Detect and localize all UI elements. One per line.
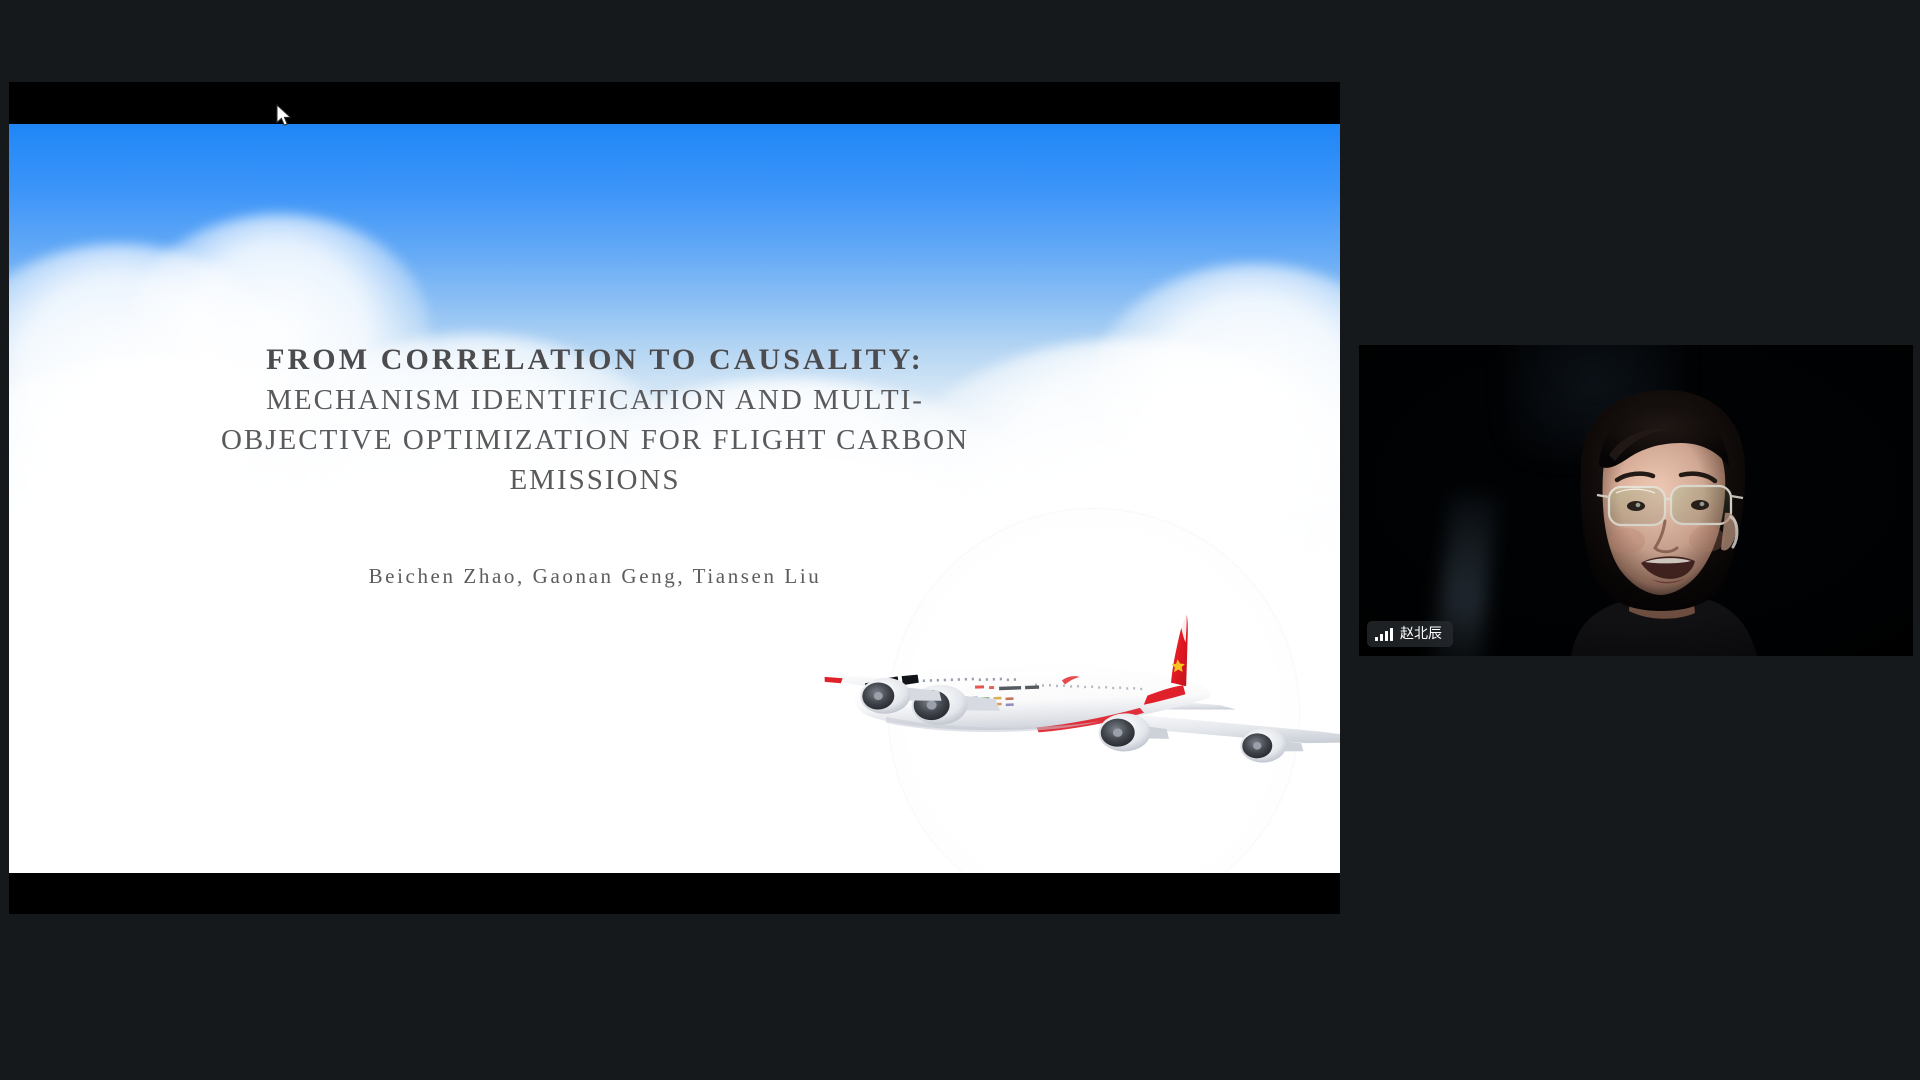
slide-authors: Beichen Zhao, Gaonan Geng, Tiansen Liu <box>95 564 1095 589</box>
video-feed <box>1359 345 1913 656</box>
mouse-pointer <box>276 104 294 128</box>
letterbox-bottom-bar <box>9 873 1340 914</box>
slide-title-line-4: EMISSIONS <box>95 460 1095 500</box>
participant-name-badge: 赵北辰 <box>1367 621 1453 647</box>
slide-title-line-1: FROM CORRELATION TO CAUSALITY: <box>95 340 1095 380</box>
participant-video-tile[interactable]: 赵北辰 <box>1359 345 1913 656</box>
meeting-screen-share-view: FROM CORRELATION TO CAUSALITY: MECHANISM… <box>0 0 1920 1080</box>
participant-display-name: 赵北辰 <box>1400 621 1442 647</box>
airliner-photo <box>796 584 1340 783</box>
webcam-person <box>1359 345 1913 656</box>
signal-bars-icon <box>1375 628 1393 641</box>
letterbox-top-bar <box>9 82 1340 124</box>
slide-title: FROM CORRELATION TO CAUSALITY: MECHANISM… <box>95 340 1095 500</box>
slide-title-line-2: MECHANISM IDENTIFICATION AND MULTI- <box>95 380 1095 420</box>
presentation-slide[interactable]: FROM CORRELATION TO CAUSALITY: MECHANISM… <box>9 124 1340 873</box>
shared-screen-stage[interactable]: FROM CORRELATION TO CAUSALITY: MECHANISM… <box>9 82 1340 914</box>
slide-title-line-3: OBJECTIVE OPTIMIZATION FOR FLIGHT CARBON <box>95 420 1095 460</box>
